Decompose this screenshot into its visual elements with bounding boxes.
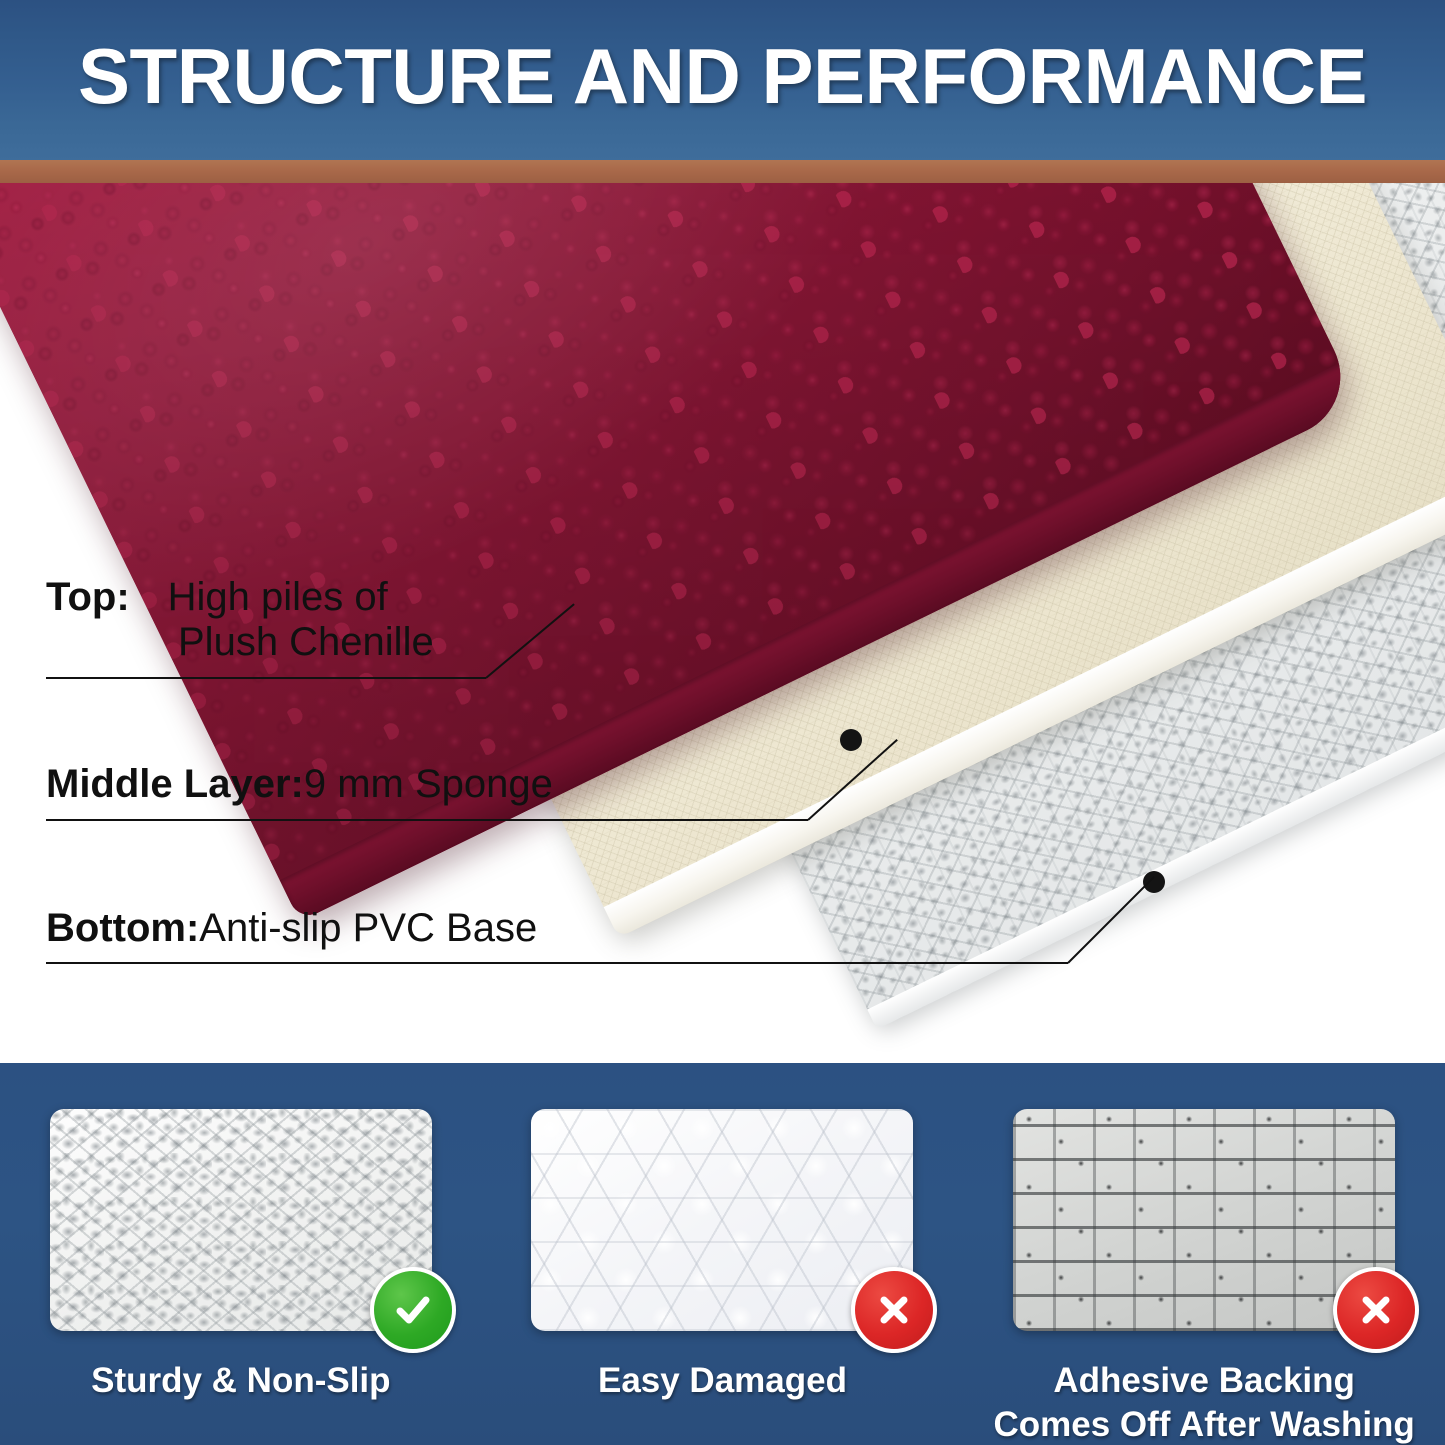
callout-bottom-value: Anti-slip PVC Base bbox=[199, 906, 537, 950]
comparison-card-sturdy-non-slip: Sturdy & Non-Slip bbox=[41, 1109, 441, 1403]
callout-top-value-line1: High piles of bbox=[168, 575, 388, 619]
card-caption-line1: Easy Damaged bbox=[598, 1359, 847, 1403]
comparison-cards-row: Sturdy & Non-Slip Easy Damaged bbox=[0, 1063, 1445, 1445]
comparison-panel: Sturdy & Non-Slip Easy Damaged bbox=[0, 1063, 1445, 1445]
callout-bottom-label: Bottom: bbox=[46, 906, 199, 950]
card-caption-line1: Sturdy & Non-Slip bbox=[91, 1359, 390, 1403]
top-callout-rule bbox=[46, 677, 486, 679]
cross-icon bbox=[1333, 1267, 1419, 1353]
middle-callout-rule bbox=[46, 819, 808, 821]
comparison-card-adhesive-backing: Adhesive Backing Comes Off After Washing bbox=[1004, 1109, 1404, 1445]
callout-top: Top:High piles of Plush Chenille bbox=[46, 575, 434, 665]
callout-middle-label: Middle Layer: bbox=[46, 762, 304, 806]
page-title: STRUCTURE AND PERFORMANCE bbox=[0, 26, 1445, 126]
card-caption: Adhesive Backing Comes Off After Washing bbox=[993, 1359, 1414, 1445]
callout-middle-value: 9 mm Sponge bbox=[304, 762, 553, 806]
card-caption: Sturdy & Non-Slip bbox=[91, 1359, 390, 1403]
card-caption-line2: Comes Off After Washing bbox=[993, 1403, 1414, 1445]
callout-bottom: Bottom:Anti-slip PVC Base bbox=[46, 906, 537, 951]
swatch-wrapper bbox=[1013, 1109, 1395, 1331]
card-caption: Easy Damaged bbox=[598, 1359, 847, 1403]
swatch-wrapper bbox=[50, 1109, 432, 1331]
bottom-callout-rule bbox=[46, 962, 1068, 964]
accent-strip bbox=[0, 160, 1445, 183]
header-band: STRUCTURE AND PERFORMANCE bbox=[0, 0, 1445, 160]
callout-top-label: Top: bbox=[46, 575, 130, 619]
callout-top-value-line2: Plush Chenille bbox=[178, 620, 434, 664]
callout-middle: Middle Layer:9 mm Sponge bbox=[46, 762, 553, 807]
card-caption-line1: Adhesive Backing bbox=[993, 1359, 1414, 1403]
swatch-wrapper bbox=[531, 1109, 913, 1331]
sponge-layer-dot-marker bbox=[840, 729, 862, 751]
comparison-card-easy-damaged: Easy Damaged bbox=[522, 1109, 922, 1403]
cross-icon bbox=[851, 1267, 937, 1353]
check-icon bbox=[370, 1267, 456, 1353]
infographic-page: STRUCTURE AND PERFORMANCE bbox=[0, 0, 1445, 1445]
